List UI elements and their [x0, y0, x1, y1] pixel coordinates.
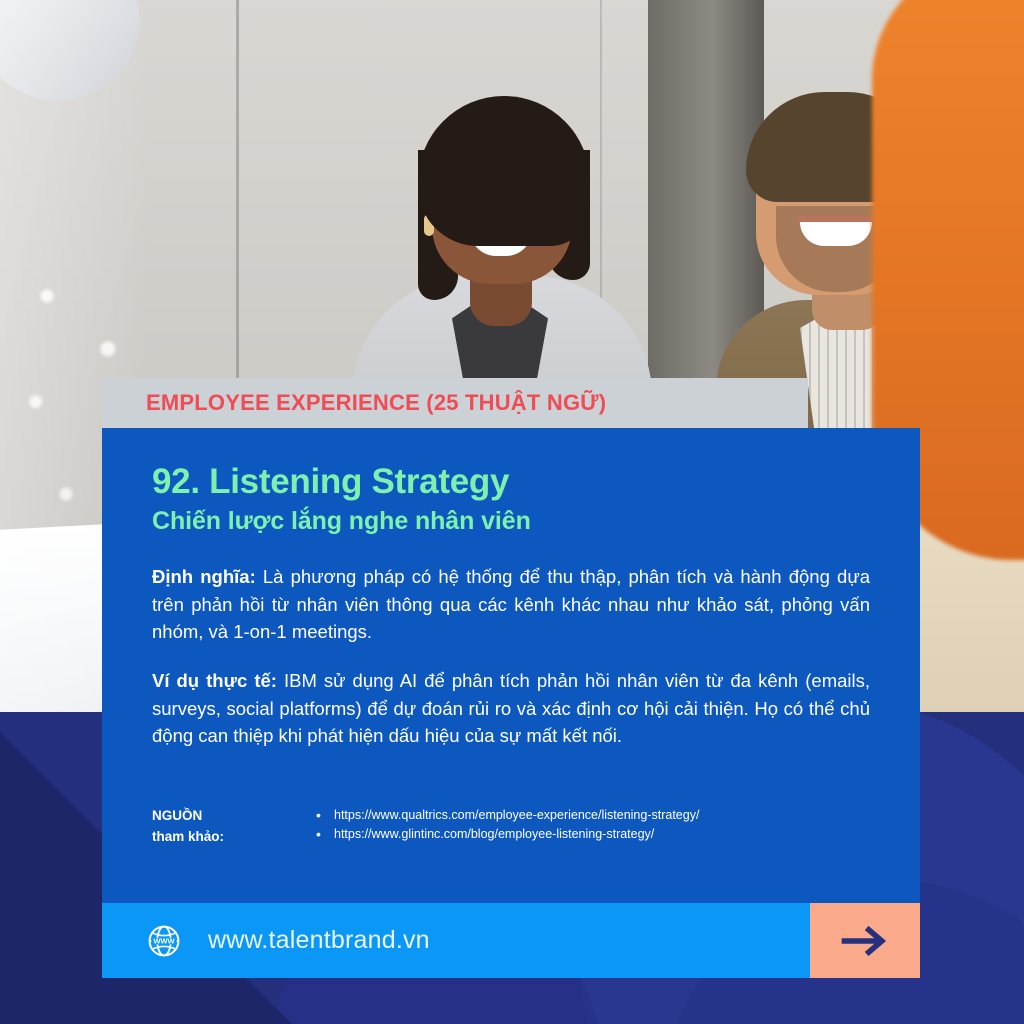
definition-label: Định nghĩa:: [152, 566, 256, 587]
svg-text:WWW: WWW: [153, 936, 175, 945]
globe-www-icon: WWW: [146, 923, 182, 959]
page-subtitle: Chiến lược lắng nghe nhân viên: [152, 505, 870, 538]
eyebrow-band: EMPLOYEE EXPERIENCE (25 THUẬT NGỮ): [102, 378, 808, 428]
eyebrow-title: EMPLOYEE EXPERIENCE (25 THUẬT NGỮ): [146, 390, 606, 416]
source-link-2[interactable]: https://www.glintinc.com/blog/employee-l…: [334, 827, 654, 841]
content-card-inner: 92. Listening Strategy Chiến lược lắng n…: [102, 428, 920, 750]
next-arrow-button[interactable]: [810, 903, 920, 978]
source-label-line2: tham khảo:: [152, 827, 312, 848]
social-card-slide: EMPLOYEE EXPERIENCE (25 THUẬT NGỮ) 92. L…: [0, 0, 1024, 1024]
example-label: Ví dụ thực tế:: [152, 670, 277, 691]
website-url[interactable]: www.talentbrand.vn: [208, 926, 430, 955]
source-label-line1: NGUỒN: [152, 806, 312, 827]
definition-paragraph: Định nghĩa: Là phương pháp có hệ thống đ…: [152, 563, 870, 645]
footer-bar: WWW www.talentbrand.vn: [102, 903, 920, 978]
definition-body: Là phương pháp có hệ thống để thu thập, …: [152, 566, 870, 642]
list-item[interactable]: https://www.glintinc.com/blog/employee-l…: [312, 825, 699, 844]
photo-wall-seam: [236, 0, 239, 430]
source-link-list: https://www.qualtrics.com/employee-exper…: [312, 806, 699, 844]
page-title: 92. Listening Strategy: [152, 464, 870, 501]
list-item[interactable]: https://www.qualtrics.com/employee-exper…: [312, 806, 699, 825]
source-label: NGUỒN tham khảo:: [152, 806, 312, 848]
source-link-1[interactable]: https://www.qualtrics.com/employee-exper…: [334, 808, 699, 822]
example-paragraph: Ví dụ thực tế: IBM sử dụng AI để phân tí…: [152, 667, 870, 749]
arrow-right-icon: [837, 925, 893, 957]
source-block: NGUỒN tham khảo: https://www.qualtrics.c…: [152, 806, 699, 848]
